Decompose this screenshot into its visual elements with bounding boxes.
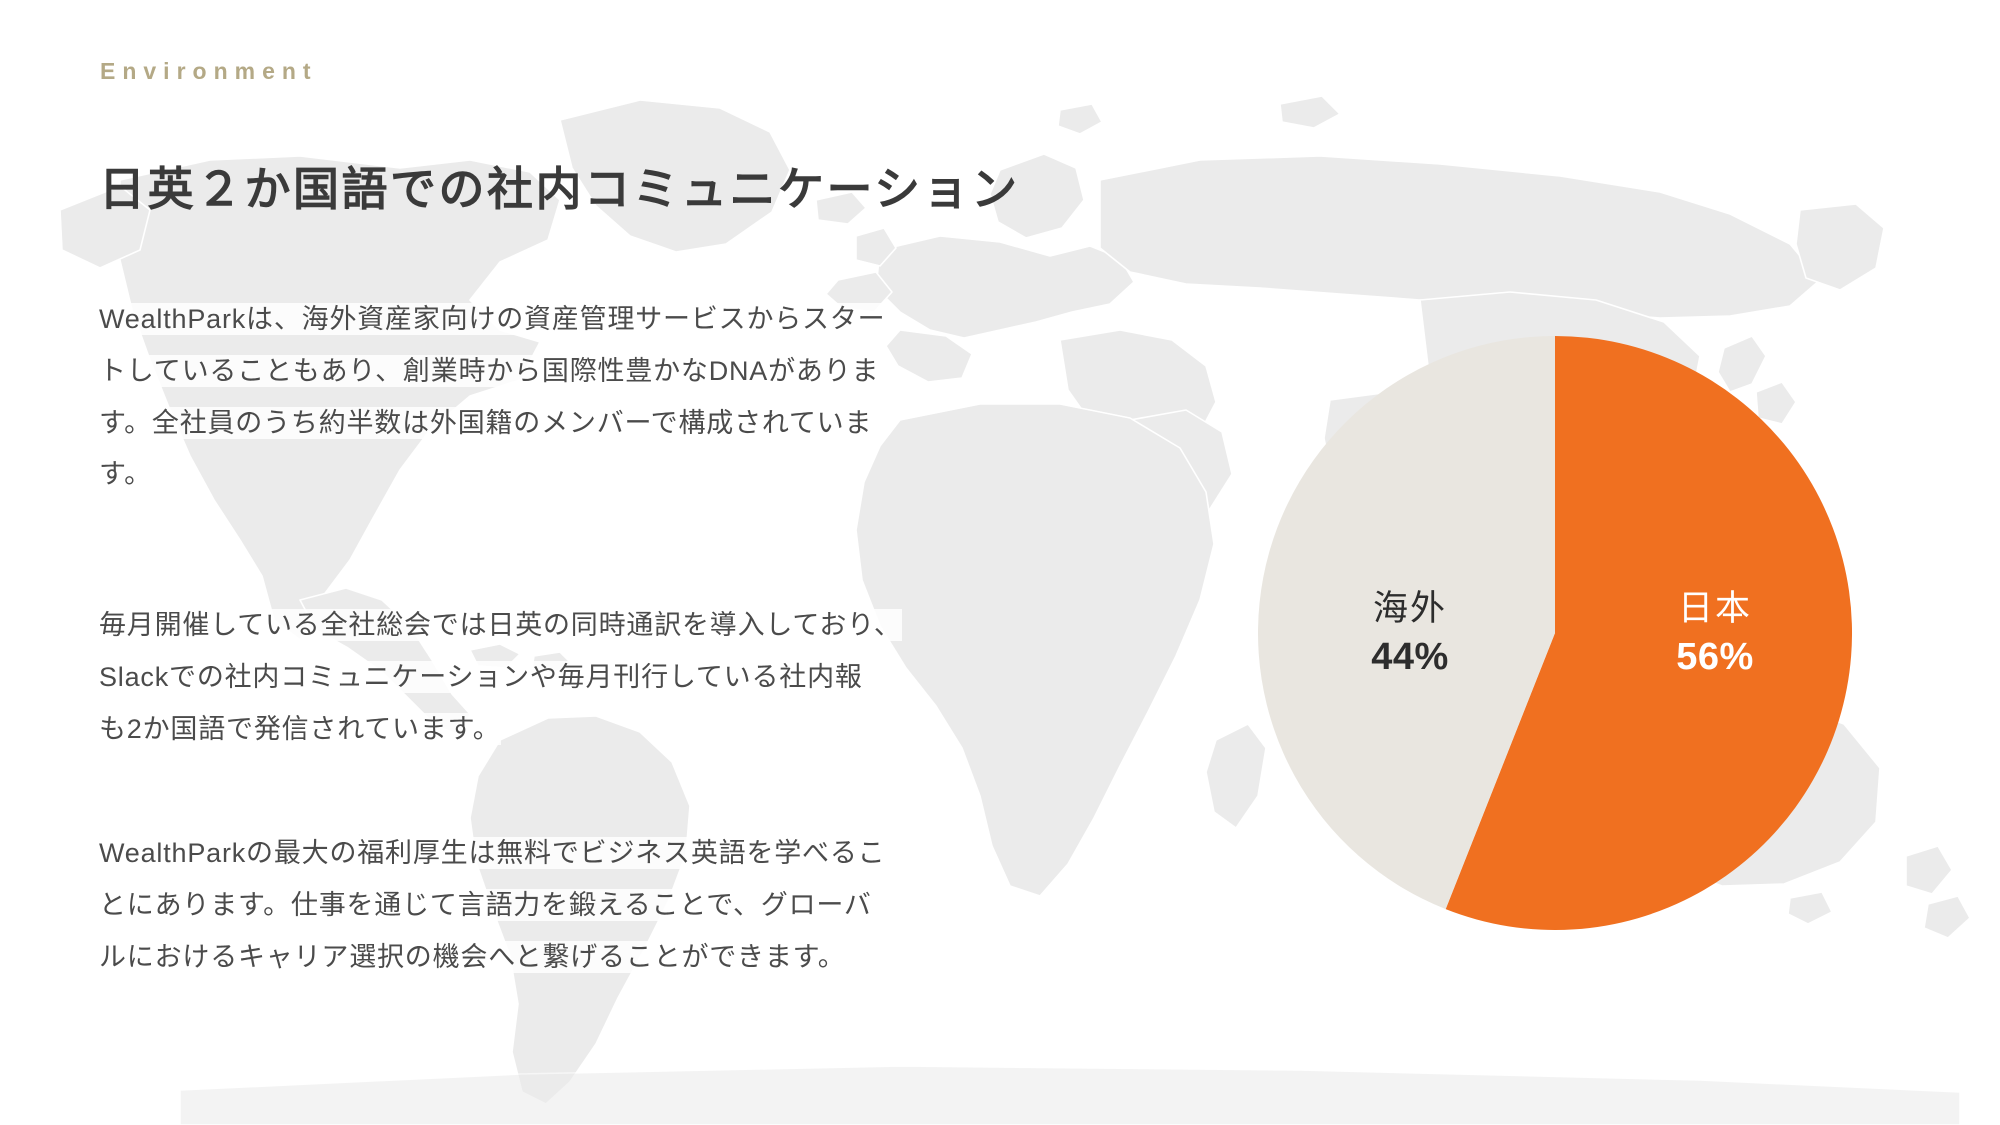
paragraph-line: も2か国語で発信されています。	[99, 704, 1059, 756]
paragraph-line-text: WealthParkは、海外資産家向けの資産管理サービスからスター	[99, 303, 885, 335]
paragraph-line-text: トしていることもあり、創業時から国際性豊かなDNAがありま	[99, 355, 879, 387]
body-paragraph-1: WealthParkは、海外資産家向けの資産管理サービスからスター トしているこ…	[99, 294, 1059, 501]
paragraph-line: す。全社員のうち約半数は外国籍のメンバーで構成されていま	[99, 398, 1059, 450]
paragraph-line: WealthParkは、海外資産家向けの資産管理サービスからスター	[99, 294, 1059, 346]
section-eyebrow-label: Environment	[100, 60, 318, 83]
paragraph-line-text: す。全社員のうち約半数は外国籍のメンバーで構成されていま	[99, 407, 872, 439]
paragraph-line: ルにおけるキャリア選択の機会へと繋げることができます。	[99, 932, 1059, 984]
paragraph-line: Slackでの社内コミュニケーションや毎月刊行している社内報	[99, 652, 1059, 704]
pie-slice-group	[1258, 336, 1852, 930]
paragraph-line-text: Slackでの社内コミュニケーションや毎月刊行している社内報	[99, 661, 863, 693]
paragraph-line: 毎月開催している全社総会では日英の同時通訳を導入しており、	[99, 600, 1059, 652]
body-paragraph-2: 毎月開催している全社総会では日英の同時通訳を導入しており、 Slackでの社内コ…	[99, 600, 1059, 755]
paragraph-line: トしていることもあり、創業時から国際性豊かなDNAがありま	[99, 346, 1059, 398]
paragraph-line-text: す。	[99, 458, 152, 490]
paragraph-line: とにあります。仕事を通じて言語力を鍛えることで、グローバ	[99, 880, 1059, 932]
paragraph-line-text: も2か国語で発信されています。	[99, 713, 501, 745]
body-paragraph-3: WealthParkの最大の福利厚生は無料でビジネス英語を学べるこ とにあります…	[99, 828, 1059, 983]
employee-nationality-pie-chart	[1255, 333, 1855, 933]
paragraph-line-text: とにあります。仕事を通じて言語力を鍛えることで、グローバ	[99, 889, 872, 921]
paragraph-line: す。	[99, 449, 1059, 501]
paragraph-line-text: ルにおけるキャリア選択の機会へと繋げることができます。	[99, 941, 846, 973]
slide-content: Environment 日英２か国語での社内コミュニケーション WealthPa…	[0, 0, 2000, 1125]
paragraph-line-text: WealthParkの最大の福利厚生は無料でビジネス英語を学べるこ	[99, 837, 885, 869]
page-title: 日英２か国語での社内コミュニケーション	[99, 161, 1020, 219]
paragraph-line: WealthParkの最大の福利厚生は無料でビジネス英語を学べるこ	[99, 828, 1059, 880]
paragraph-line-text: 毎月開催している全社総会では日英の同時通訳を導入しており、	[99, 609, 902, 641]
